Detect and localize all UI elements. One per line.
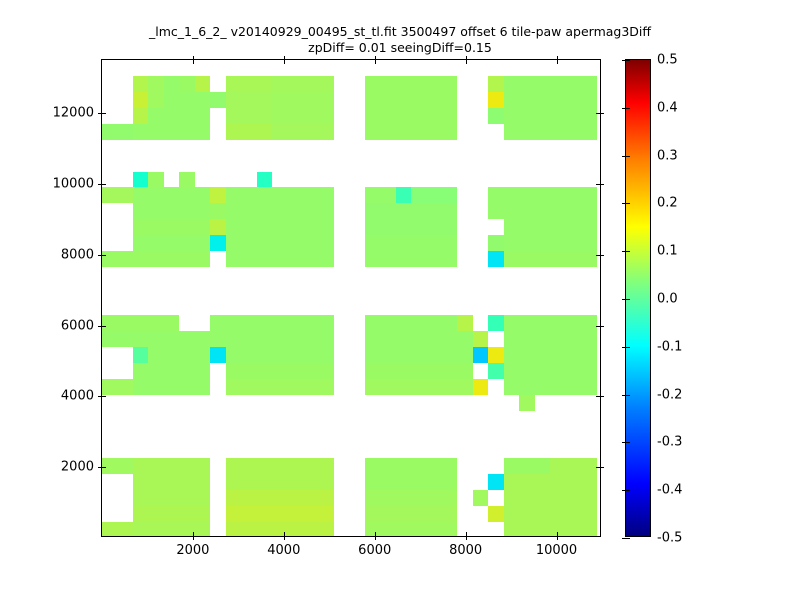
colorbar-tick-label: -0.1 xyxy=(657,339,682,354)
colorbar-tick-label: 0.2 xyxy=(657,196,678,211)
heatmap-cell xyxy=(102,187,133,203)
heatmap-cell xyxy=(133,363,210,379)
heatmap-cell xyxy=(550,458,596,474)
y-axis-tick-label: 10000 xyxy=(53,176,94,191)
heatmap-cell xyxy=(504,347,597,363)
heatmap-cell xyxy=(488,108,503,124)
heatmap-cell xyxy=(133,474,210,490)
heatmap-cell xyxy=(396,187,411,203)
colorbar-tick xyxy=(626,203,630,204)
y-axis-tick xyxy=(596,255,600,256)
heatmap-cell xyxy=(133,522,210,536)
heatmap-cell xyxy=(365,251,458,267)
heatmap-cell xyxy=(148,92,163,108)
heatmap-cell xyxy=(226,76,241,92)
heatmap-cell xyxy=(226,347,334,363)
heatmap-cell xyxy=(272,124,334,140)
heatmap-cell xyxy=(133,347,148,363)
plot-subtitle: zpDiff= 0.01 seeingDiff=0.15 xyxy=(0,40,800,55)
x-axis-tick xyxy=(193,536,194,540)
heatmap-cell xyxy=(504,235,597,251)
heatmap-cell xyxy=(241,76,272,92)
heatmap-cell xyxy=(226,251,334,267)
heatmap-cell xyxy=(226,203,334,219)
y-axis-tick xyxy=(102,184,106,185)
heatmap-cell xyxy=(365,331,473,347)
y-axis-tick xyxy=(596,184,600,185)
heatmap-cell xyxy=(504,219,597,235)
heatmap-cell xyxy=(133,331,210,347)
colorbar-tick xyxy=(626,60,630,61)
x-axis-tick xyxy=(557,60,558,64)
heatmap-cell xyxy=(133,219,210,235)
y-axis-tick xyxy=(600,113,604,114)
x-axis-tick xyxy=(375,532,376,536)
colorbar-tick xyxy=(626,251,630,252)
heatmap-cell xyxy=(272,108,334,124)
figure-canvas: _lmc_1_6_2_ v20140929_00495_st_tl.fit 35… xyxy=(0,0,800,600)
heatmap-cell xyxy=(488,315,503,331)
heatmap-cell xyxy=(164,92,210,108)
heatmap-cell xyxy=(488,251,503,267)
x-axis-tick-label: 4000 xyxy=(267,543,300,558)
colorbar-tick-label: -0.2 xyxy=(657,387,682,402)
heatmap-cell xyxy=(133,235,210,251)
heatmap-cell xyxy=(210,219,225,235)
heatmap-cell xyxy=(102,379,133,395)
heatmap-cell xyxy=(133,76,148,92)
x-axis-tick-label: 6000 xyxy=(358,543,391,558)
heatmap-cell xyxy=(365,76,458,92)
heatmap-cell xyxy=(179,172,194,188)
heatmap-cell xyxy=(519,395,534,411)
heatmap-cell xyxy=(365,108,458,124)
heatmap-cell xyxy=(473,347,488,363)
colorbar-tick xyxy=(626,299,630,300)
heatmap-cell xyxy=(226,235,334,251)
heatmap-cell xyxy=(457,315,472,331)
heatmap-cell xyxy=(365,474,458,490)
y-axis-tick-label: 2000 xyxy=(61,460,94,475)
y-axis-tick-label: 6000 xyxy=(61,318,94,333)
heatmap-cell xyxy=(365,363,473,379)
x-axis-tick xyxy=(284,60,285,64)
heatmap-cell xyxy=(365,458,458,474)
heatmap-cell xyxy=(179,76,194,92)
colorbar-tick-label: 0.3 xyxy=(657,148,678,163)
y-axis-tick xyxy=(596,326,600,327)
y-axis-tick xyxy=(102,467,106,468)
heatmap-cell xyxy=(164,76,179,92)
heatmap-cell xyxy=(411,187,457,203)
heatmap-cell xyxy=(504,315,597,331)
heatmap-cell xyxy=(148,108,210,124)
y-axis-tick xyxy=(600,255,604,256)
heatmap-cell xyxy=(148,76,163,92)
x-axis-tick xyxy=(284,536,285,540)
heatmap-cell xyxy=(102,251,133,267)
y-axis-tick xyxy=(600,467,604,468)
heatmap-cell xyxy=(504,506,597,522)
y-axis-tick-label: 4000 xyxy=(61,389,94,404)
heatmap-cell xyxy=(488,474,503,490)
heatmap-cell xyxy=(133,187,210,203)
heatmap-cell xyxy=(365,219,458,235)
x-axis-tick xyxy=(375,60,376,64)
heatmap-cell xyxy=(504,331,597,347)
heatmap-cell xyxy=(226,522,334,536)
x-axis-tick xyxy=(193,60,194,64)
heatmap-cell xyxy=(365,490,458,506)
heatmap-cell xyxy=(488,235,503,251)
y-axis-tick xyxy=(102,113,106,114)
y-axis-tick xyxy=(102,255,106,256)
heatmap-cell xyxy=(488,347,503,363)
colorbar-tick xyxy=(626,538,630,539)
heatmap-cell xyxy=(365,124,458,140)
heatmap-cell xyxy=(504,108,597,124)
heatmap-cell xyxy=(365,522,458,536)
heatmap-cell xyxy=(365,379,473,395)
heatmap-cell xyxy=(504,76,597,92)
heatmap-cell xyxy=(272,76,334,92)
heatmap-cell xyxy=(226,506,334,522)
heatmap-cell xyxy=(504,363,597,379)
heatmap-cell xyxy=(133,203,210,219)
heatmap-cell xyxy=(504,251,597,267)
heatmap-cell xyxy=(226,187,334,203)
heatmap-data-layer xyxy=(102,60,600,536)
colorbar-tick-label: 0.5 xyxy=(657,53,678,68)
heatmap-cell xyxy=(226,474,334,490)
heatmap-cell xyxy=(365,315,458,331)
x-axis-tick xyxy=(466,532,467,536)
heatmap-cell xyxy=(133,506,210,522)
heatmap-cell xyxy=(504,379,597,395)
heatmap-cell xyxy=(210,315,334,331)
heatmap-cell xyxy=(365,235,458,251)
colorbar-tick xyxy=(626,156,630,157)
y-axis-tick-label: 8000 xyxy=(61,247,94,262)
heatmap-cell xyxy=(148,347,210,363)
y-axis-tick xyxy=(596,113,600,114)
y-axis-tick xyxy=(596,396,600,397)
heatmap-cell xyxy=(133,124,210,140)
heatmap-cell xyxy=(226,124,272,140)
heatmap-cell xyxy=(488,187,596,203)
heatmap-cell xyxy=(226,458,334,474)
colorbar-tick xyxy=(626,490,630,491)
heatmap-cell xyxy=(226,92,272,108)
heatmap-cell xyxy=(210,187,225,203)
x-axis-tick-label: 10000 xyxy=(536,543,577,558)
heatmap-cell xyxy=(365,506,458,522)
y-axis-tick xyxy=(600,396,604,397)
heatmap-cell xyxy=(257,172,272,188)
heatmap-cell xyxy=(365,92,458,108)
heatmap-cell xyxy=(226,108,272,124)
colorbar-tick-label: -0.3 xyxy=(657,435,682,450)
heatmap-cell xyxy=(504,522,597,536)
heatmap-cell xyxy=(210,92,225,108)
y-axis-tick xyxy=(596,467,600,468)
heatmap-cell xyxy=(133,251,210,267)
heatmap-cell xyxy=(473,490,488,506)
heatmap-cell xyxy=(488,506,503,522)
y-axis-tick-label: 12000 xyxy=(53,106,94,121)
heatmap-cell xyxy=(504,124,597,140)
heatmap-cell xyxy=(102,124,133,140)
plot-title: _lmc_1_6_2_ v20140929_00495_st_tl.fit 35… xyxy=(0,24,800,39)
x-axis-tick xyxy=(193,532,194,536)
x-axis-tick xyxy=(557,532,558,536)
heatmap-cell xyxy=(504,458,550,474)
x-axis-tick xyxy=(557,536,558,540)
heatmap-cell xyxy=(195,76,210,92)
colorbar-tick xyxy=(626,108,630,109)
heatmap-cell xyxy=(148,172,163,188)
y-axis-tick xyxy=(600,184,604,185)
heatmap-cell xyxy=(504,490,597,506)
heatmap-cell xyxy=(210,331,334,347)
heatmap-cell xyxy=(226,379,334,395)
x-axis-tick xyxy=(466,536,467,540)
x-axis-tick xyxy=(284,532,285,536)
heatmap-cell xyxy=(102,331,133,347)
colorbar-tick-label: 0.4 xyxy=(657,100,678,115)
colorbar-tick-label: 0.1 xyxy=(657,244,678,259)
heatmap-cell xyxy=(133,379,210,395)
heatmap-cell xyxy=(133,108,148,124)
colorbar-tick-label: -0.5 xyxy=(657,531,682,546)
heatmap-cell xyxy=(210,347,225,363)
colorbar-tick xyxy=(626,395,630,396)
heatmap-cell xyxy=(365,187,396,203)
heatmap-cell xyxy=(488,363,503,379)
heatmap-cell xyxy=(226,490,334,506)
y-axis-tick xyxy=(102,396,106,397)
heatmap-cell xyxy=(473,331,488,347)
heatmap-cell xyxy=(488,92,503,108)
heatmap-cell xyxy=(488,76,503,92)
heatmap-cell xyxy=(102,458,133,474)
heatmap-cell xyxy=(504,92,597,108)
heatmap-cell xyxy=(133,172,148,188)
heatmap-cell xyxy=(102,522,133,536)
heatmap-cell xyxy=(133,92,148,108)
y-axis-tick xyxy=(600,326,604,327)
heatmap-cell xyxy=(272,92,334,108)
heatmap-axes: 2000400060008000100001200020004000600080… xyxy=(101,59,601,537)
colorbar: -0.5-0.4-0.3-0.2-0.10.00.10.20.30.40.5 xyxy=(625,59,651,537)
heatmap-cell xyxy=(226,219,334,235)
x-axis-tick xyxy=(466,60,467,64)
heatmap-cell xyxy=(473,379,488,395)
heatmap-cell xyxy=(210,203,225,219)
colorbar-tick xyxy=(626,347,630,348)
colorbar-tick xyxy=(626,442,630,443)
heatmap-cell xyxy=(133,458,210,474)
heatmap-cell xyxy=(488,203,596,219)
heatmap-cell xyxy=(102,315,179,331)
heatmap-cell xyxy=(365,203,458,219)
colorbar-tick-label: 0.0 xyxy=(657,292,678,307)
heatmap-cell xyxy=(133,490,210,506)
y-axis-tick xyxy=(102,326,106,327)
heatmap-cell xyxy=(210,235,225,251)
x-axis-tick-label: 2000 xyxy=(176,543,209,558)
x-axis-tick-label: 8000 xyxy=(449,543,482,558)
x-axis-tick xyxy=(375,536,376,540)
colorbar-tick-label: -0.4 xyxy=(657,483,682,498)
heatmap-cell xyxy=(226,363,334,379)
heatmap-cell xyxy=(504,474,597,490)
heatmap-cell xyxy=(365,347,473,363)
